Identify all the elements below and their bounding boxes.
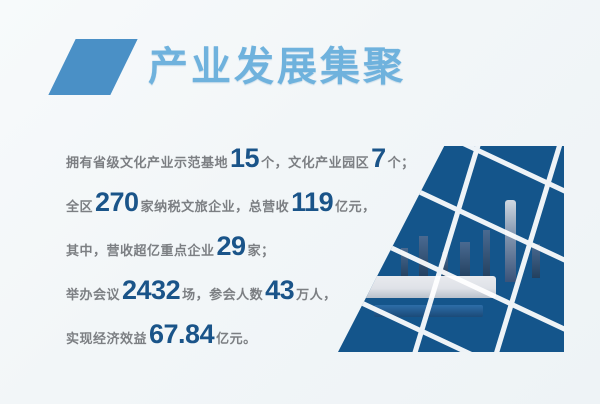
stat-text: 家纳税文旅企业，总营收 xyxy=(141,196,290,215)
stat-number: 270 xyxy=(93,189,141,216)
stat-text: 举办会议 xyxy=(66,284,120,303)
list-item: 举办会议 2432 场，参会人数 43 万人， xyxy=(66,277,496,321)
stat-text: 实现经济效益 xyxy=(66,328,147,347)
stat-text: 家； xyxy=(248,240,275,259)
stat-text: 万人， xyxy=(296,284,337,303)
stat-text: 个，文化产业园区 xyxy=(261,152,369,171)
stat-text: 亿元， xyxy=(335,196,376,215)
page-title: 产业发展集聚 xyxy=(148,47,406,87)
stat-number: 2432 xyxy=(120,277,182,304)
stat-number: 67.84 xyxy=(147,321,216,348)
title-accent-parallelogram xyxy=(48,39,137,95)
stat-number: 43 xyxy=(263,277,296,304)
list-item: 全区 270 家纳税文旅企业，总营收 119 亿元， xyxy=(66,189,496,233)
list-item: 实现经济效益 67.84 亿元。 xyxy=(66,321,496,365)
list-item: 拥有省级文化产业示范基地 15 个，文化产业园区 7 个； xyxy=(66,145,496,189)
list-item: 其中，营收超亿重点企业 29 家； xyxy=(66,233,496,277)
stat-number: 15 xyxy=(228,145,261,172)
stat-text: 其中，营收超亿重点企业 xyxy=(66,240,215,259)
stat-text: 场，参会人数 xyxy=(182,284,263,303)
stat-text: 个； xyxy=(388,152,415,171)
infographic-slide: 产业发展集聚 xyxy=(0,0,600,404)
stat-number: 29 xyxy=(215,233,248,260)
stat-number: 7 xyxy=(369,145,388,172)
title-block: 产业发展集聚 xyxy=(62,36,406,98)
stat-text: 全区 xyxy=(66,196,93,215)
statistics-list: 拥有省级文化产业示范基地 15 个，文化产业园区 7 个； 全区 270 家纳税… xyxy=(66,145,496,365)
stat-number: 119 xyxy=(289,189,335,216)
stat-text: 拥有省级文化产业示范基地 xyxy=(66,152,228,171)
stat-text: 亿元。 xyxy=(216,328,257,347)
